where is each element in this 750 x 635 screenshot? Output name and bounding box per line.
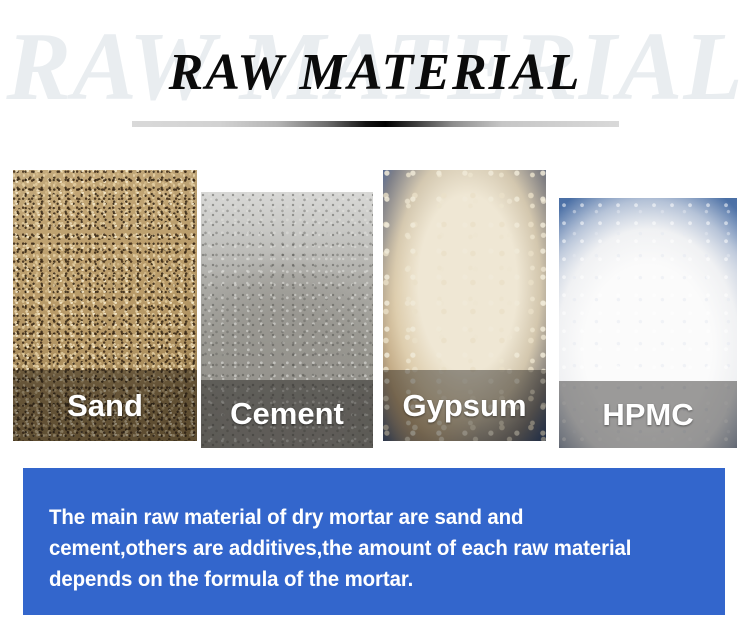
sand-caption-label: Sand bbox=[13, 370, 197, 441]
description-box: The main raw material of dry mortar are … bbox=[23, 468, 725, 615]
material-card-hpmc[interactable]: HPMC bbox=[559, 198, 737, 448]
description-text: The main raw material of dry mortar are … bbox=[49, 502, 667, 595]
material-panel-group: Sand Cement Gypsum HPMC bbox=[0, 0, 750, 460]
cement-caption-label: Cement bbox=[201, 380, 373, 448]
hpmc-caption-label: HPMC bbox=[559, 381, 737, 448]
material-card-gypsum[interactable]: Gypsum bbox=[383, 170, 546, 441]
gypsum-caption-label: Gypsum bbox=[383, 370, 546, 441]
material-card-cement[interactable]: Cement bbox=[201, 192, 373, 448]
material-card-sand[interactable]: Sand bbox=[13, 170, 197, 441]
